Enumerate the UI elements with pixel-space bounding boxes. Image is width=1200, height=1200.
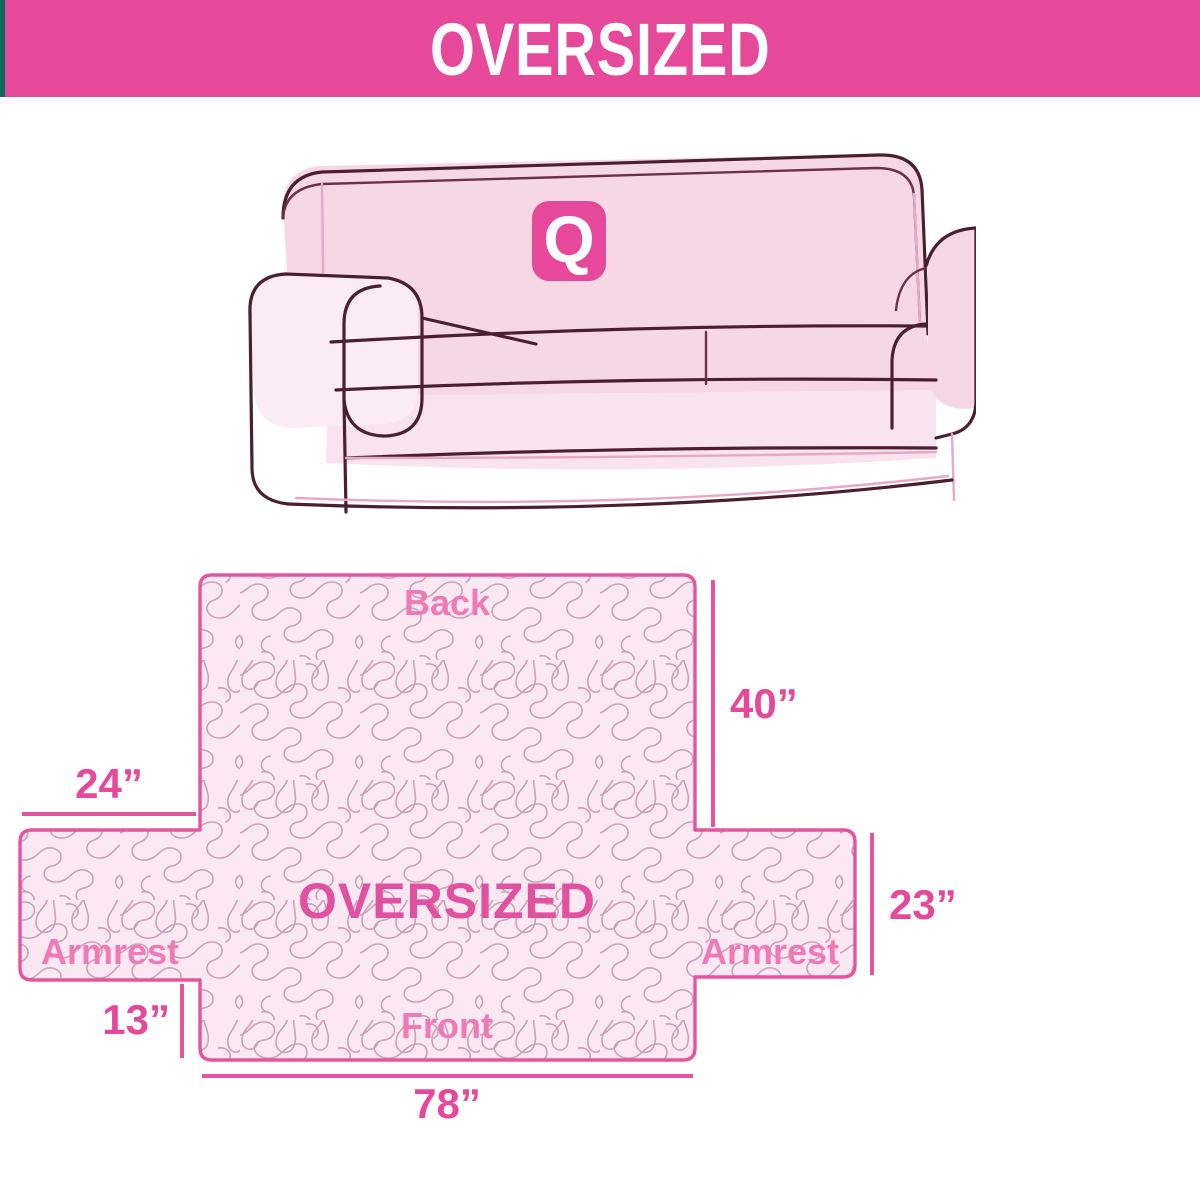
sofa-left-arm-fill bbox=[250, 272, 418, 428]
brand-logo-letter: Q bbox=[543, 206, 594, 272]
sofa-left-arm-inner-front bbox=[344, 400, 346, 512]
panel-label-armrest-left: Armrest bbox=[41, 931, 179, 972]
banner-edge-accent bbox=[0, 0, 5, 97]
cover-outline bbox=[20, 575, 855, 1060]
sofa-front-panel-bottom bbox=[296, 476, 948, 502]
sofa-right-arm-fill bbox=[928, 228, 976, 409]
sofa-right-arm-seam bbox=[952, 434, 954, 500]
size-diagram-svg: .shape { fill: url(#quilt); stroke: #e85… bbox=[0, 540, 1200, 1160]
panel-label-armrest-right: Armrest bbox=[701, 931, 839, 972]
sofa-illustration: .ol { fill:none; stroke:#4a2030; stroke-… bbox=[236, 128, 976, 528]
dim-label-armrest-height: 23” bbox=[889, 881, 957, 928]
dim-label-total-width: 78” bbox=[413, 1080, 481, 1127]
size-diagram: .shape { fill: url(#quilt); stroke: #e85… bbox=[0, 540, 1200, 1160]
header-banner: OVERSIZED bbox=[0, 0, 1200, 97]
page-title: OVERSIZED bbox=[430, 13, 771, 87]
dim-label-back-height: 40” bbox=[730, 680, 798, 727]
sofa-skirt-bottom bbox=[288, 480, 952, 508]
sofa-drawing: .ol { fill:none; stroke:#4a2030; stroke-… bbox=[236, 128, 976, 528]
panel-label-front: Front bbox=[401, 1005, 493, 1046]
dim-label-front-drop: 13” bbox=[102, 996, 170, 1043]
dim-label-armrest-width: 24” bbox=[75, 760, 143, 807]
brand-logo-badge: Q bbox=[532, 201, 606, 281]
panel-label-back: Back bbox=[404, 582, 491, 623]
panel-label-center: OVERSIZED bbox=[298, 873, 596, 929]
